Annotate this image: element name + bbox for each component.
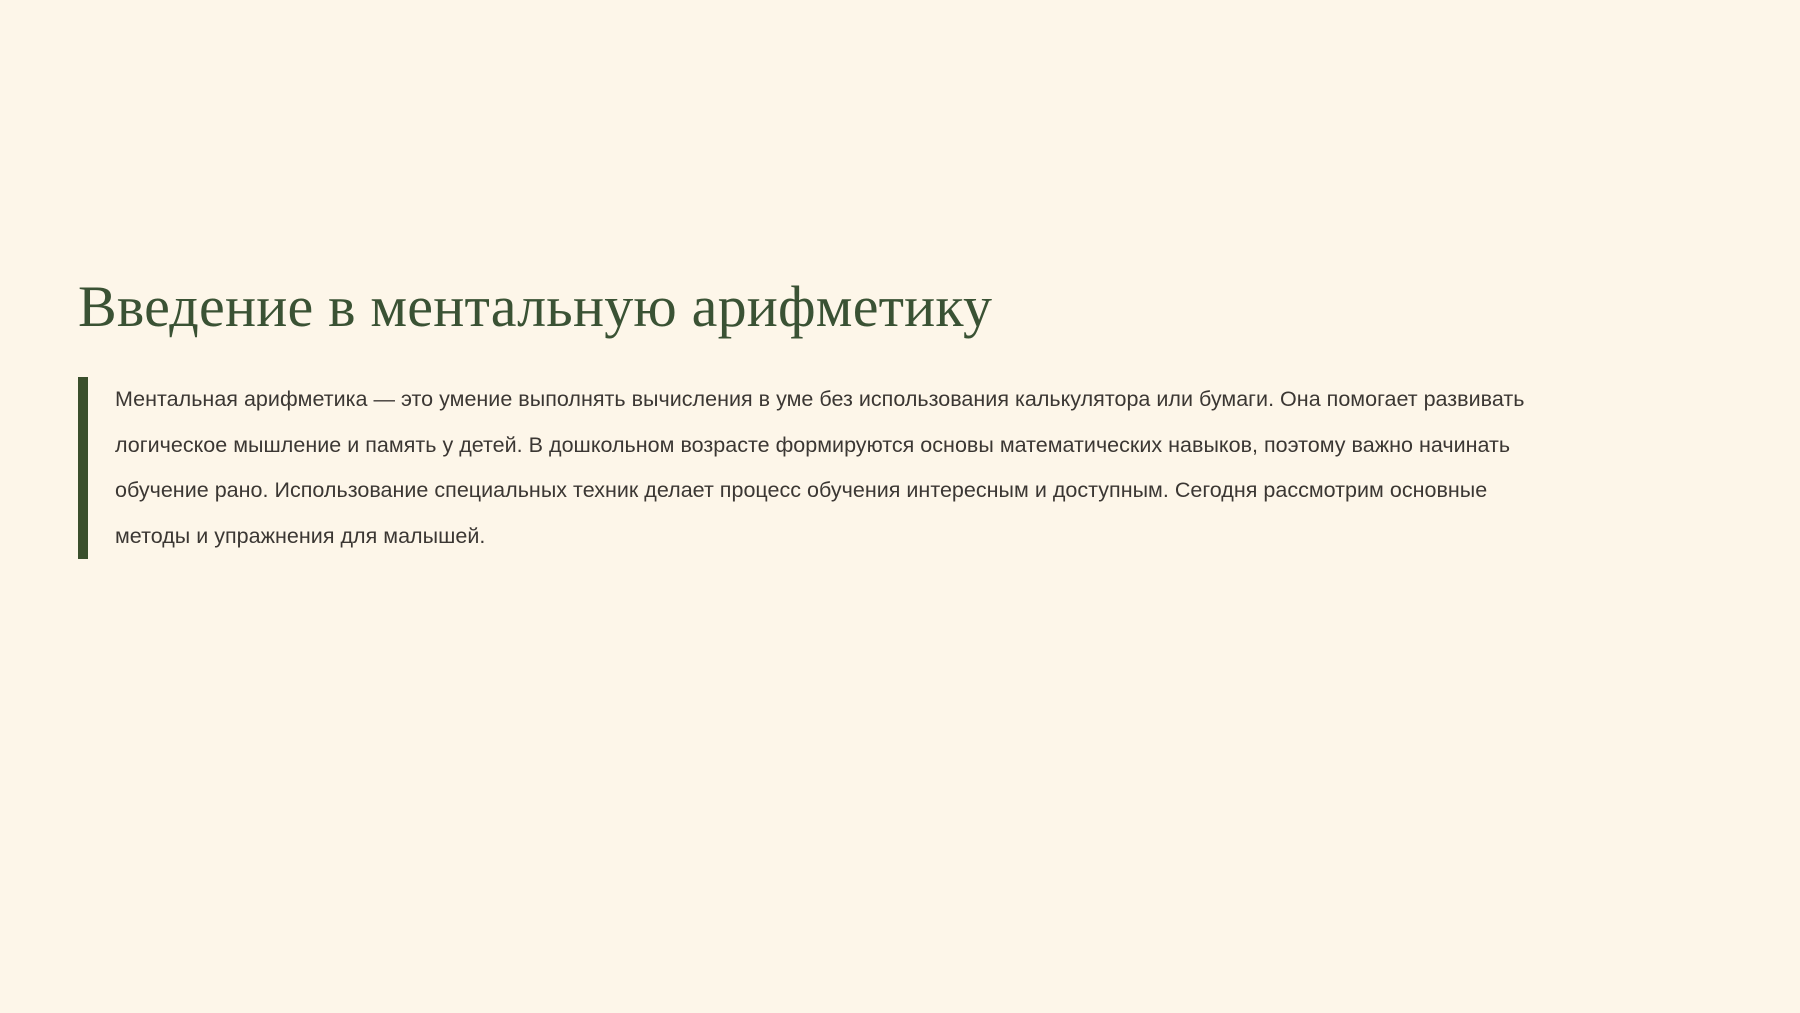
- body-paragraph: Ментальная арифметика — это умение выпол…: [115, 377, 1559, 559]
- slide-content: Введение в ментальную арифметику Менталь…: [78, 275, 1718, 559]
- body-callout: Ментальная арифметика — это умение выпол…: [78, 377, 1559, 559]
- accent-bar: [78, 377, 88, 559]
- page-title: Введение в ментальную арифметику: [78, 275, 1718, 340]
- slide-canvas: Введение в ментальную арифметику Менталь…: [0, 0, 1800, 1013]
